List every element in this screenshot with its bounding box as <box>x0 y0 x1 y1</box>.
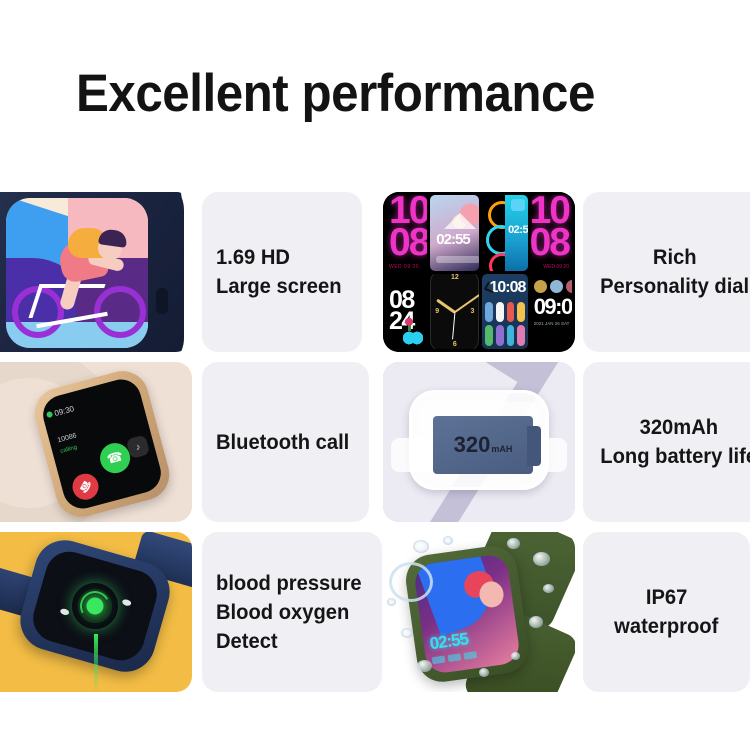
decline-call-button[interactable]: ☎ <box>68 469 103 504</box>
water-droplet-icon <box>543 584 554 593</box>
feature-line: Bluetooth call <box>216 428 349 457</box>
watch-face-time: 02:55 <box>508 225 528 236</box>
water-droplet-icon <box>417 660 432 672</box>
transparent-watch-battery-image: 320mAH <box>383 362 575 522</box>
feature-row-3: blood pressure Blood oxygen Detect 02:55 <box>0 532 750 692</box>
water-droplet-icon <box>507 538 520 549</box>
watch-face-time: 02:55 <box>436 232 469 247</box>
heart-rate-sensor-icon <box>67 578 124 635</box>
watch-face-cyclist: 02:55 <box>430 195 479 271</box>
badge-icon <box>566 280 572 293</box>
watch-face-time: 09:00 <box>534 297 572 317</box>
feature-grid: 1.69 HD Large screen 10 08 WED 09 20 02:… <box>0 192 750 692</box>
watch-face-grid-image: 10 08 WED 09 20 02:55 <box>383 192 575 352</box>
watch-screen <box>6 198 148 348</box>
feature-line: Long battery life <box>600 442 750 471</box>
feature-line: blood pressure <box>216 569 362 598</box>
feature-card-waterproof[interactable]: 02:55 <box>383 532 750 692</box>
feature-line: Large screen <box>216 272 342 301</box>
watch-face-rings: 02:55 <box>482 195 527 271</box>
watch-side-button <box>156 288 168 314</box>
battery-capacity-label: 320mAH <box>454 432 513 458</box>
feature-card-personality-dial[interactable]: 10 08 WED 09 20 02:55 <box>383 192 750 352</box>
page-title: Excellent performance <box>76 64 595 124</box>
feature-text-health-detect: blood pressure Blood oxygen Detect <box>202 532 382 692</box>
feature-text-personality-dial: Rich Personality dial <box>583 192 750 352</box>
feature-row-1: 1.69 HD Large screen 10 08 WED 09 20 02:… <box>0 192 750 352</box>
feature-line: waterproof <box>614 612 718 641</box>
caller-number: 10086 <box>57 432 78 444</box>
green-watch-water-droplets-image: 02:55 <box>383 532 575 692</box>
water-splash-icon <box>389 562 433 602</box>
water-droplet-icon <box>387 598 396 606</box>
feature-line: IP67 <box>646 583 687 612</box>
watch-face-time: 10:08 <box>489 280 525 296</box>
navy-watch-cyclist-dial-image <box>0 192 192 352</box>
call-screen-time: 09:30 <box>53 404 75 418</box>
watch-face-meta: WED 09 20 <box>389 264 427 270</box>
butterfly-icon <box>403 331 423 345</box>
watch-body: 320mAH <box>409 390 549 490</box>
feature-text-battery: 320mAh Long battery life <box>583 362 750 522</box>
watch-face-time: 10 08 <box>531 195 569 259</box>
watch-face-meta: 2021 JAN 26 SAT <box>534 321 572 326</box>
feature-text-bluetooth-call: Bluetooth call <box>202 362 369 522</box>
analog-clock-icon: 12 3 6 9 <box>430 274 479 350</box>
watch-face-white-digits: 09:00 2021 JAN 26 SAT <box>531 274 572 350</box>
blue-watch-health-sensor-image <box>0 532 192 692</box>
sensor-light-beam <box>94 634 98 692</box>
feature-line: 1.69 HD <box>216 243 290 272</box>
feature-line: Blood oxygen <box>216 598 349 627</box>
weather-icon <box>550 280 563 293</box>
water-droplet-icon <box>413 540 429 553</box>
watch-body <box>0 192 184 352</box>
water-droplet-icon <box>511 652 520 660</box>
product-feature-page: Excellent performance <box>0 0 750 750</box>
feature-card-battery[interactable]: 320mAH 320mAh Long battery life <box>383 362 750 522</box>
call-status: calling <box>60 445 78 455</box>
watch-face-flowers: 08 24 <box>386 274 427 350</box>
feature-line: Detect <box>216 627 278 656</box>
watch-screen: 09:30 10086 calling ♪ ☎ ☎ <box>39 375 166 513</box>
feature-card-health-detect[interactable]: blood pressure Blood oxygen Detect <box>0 532 362 692</box>
watch-face-time: 10 08 <box>389 195 427 259</box>
water-droplet-icon <box>443 536 453 545</box>
feature-card-bluetooth-call[interactable]: 09:30 10086 calling ♪ ☎ ☎ Bluetooth call <box>0 362 362 522</box>
feature-line: Rich <box>653 243 697 272</box>
watch-face-analog: 12 3 6 9 <box>430 274 479 350</box>
water-droplet-icon <box>479 668 489 677</box>
gold-watch-incoming-call-image: 09:30 10086 calling ♪ ☎ ☎ <box>0 362 192 522</box>
status-dot-icon <box>46 411 53 418</box>
watch-screen-time: 02:55 <box>429 630 469 652</box>
feature-text-waterproof: IP67 waterproof <box>583 532 750 692</box>
battery-cell: 320mAH <box>433 416 533 474</box>
feature-line: 320mAh <box>639 413 717 442</box>
watch-face-tiles: 10:08 <box>482 274 527 350</box>
feature-line: Personality dial <box>600 272 749 301</box>
water-droplet-icon <box>529 616 543 628</box>
water-droplet-icon <box>401 628 413 638</box>
badge-icon <box>534 280 547 293</box>
watch-face-meta: WED 09 20 <box>543 264 569 270</box>
feature-card-large-screen[interactable]: 1.69 HD Large screen <box>0 192 362 352</box>
feature-row-2: 09:30 10086 calling ♪ ☎ ☎ Bluetooth call <box>0 362 750 522</box>
feature-text-large-screen: 1.69 HD Large screen <box>202 192 362 352</box>
watch-face-pink-digits: 10 08 WED 09 20 <box>386 195 427 271</box>
watch-face-pink-digits-2: 10 08 WED 09 20 <box>531 195 572 271</box>
water-droplet-icon <box>533 552 550 566</box>
